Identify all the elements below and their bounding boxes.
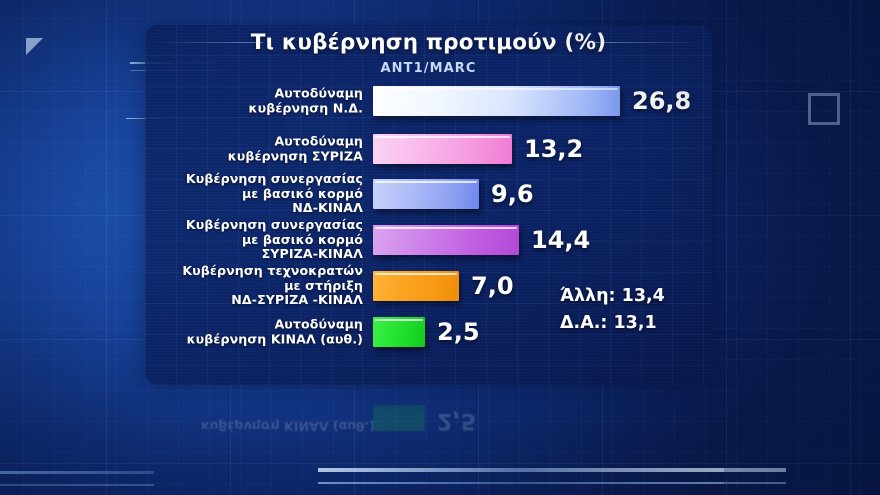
bar-label-line3: ΝΔ-ΚΙΝΑΛ [145,201,363,216]
note-other: Άλλη: 13,4 [560,283,665,310]
bar-syriza-kinal-coalition [373,225,519,255]
deco-line-br-1 [318,468,724,472]
broadcast-graphic: κυβέρνηση ΚΙΝΑΛ (αυθ.) 2,5 Τι κυβέρνηση … [0,0,880,495]
deco-line-br-4 [724,482,786,484]
bar-value: 9,6 [491,180,534,208]
bar-container: 9,6 [373,179,479,209]
bar-container: 7,0 [373,271,459,301]
reflection-bar [373,405,425,431]
bar-syriza-majority [373,134,512,164]
bar-value: 14,4 [531,226,590,254]
table-row: Αυτοδύναμη κυβέρνηση ΣΥΡΙΖΑ 13,2 [145,127,712,171]
bar-container: 14,4 [373,225,519,255]
deco-line-bl-1 [0,471,154,474]
bar-label: Κυβέρνηση τεχνοκρατών με στήριξη ΝΔ-ΣΥΡΙ… [145,264,363,308]
bar-label: Αυτοδύναμη κυβέρνηση ΣΥΡΙΖΑ [145,134,363,163]
bar-nd-kinal-coalition [373,179,479,209]
deco-line-bl-2 [0,484,154,486]
bar-nd-majority [373,86,620,116]
square-outline-icon [808,93,840,125]
bar-label-line2: κυβέρνηση ΣΥΡΙΖΑ [145,149,363,164]
reflection-label: κυβέρνηση ΚΙΝΑΛ (αυθ.) [145,418,375,433]
bar-label-line2: με βασικό κορμό [145,233,363,248]
chart-panel: Τι κυβέρνηση προτιμούν (%) ΑΝΤ1/MARC Αυτ… [145,25,712,385]
bar-label-line1: Κυβέρνηση συνεργασίας [145,172,363,187]
pollster-subtitle: ΑΝΤ1/MARC [145,61,712,76]
bar-value: 2,5 [437,318,480,346]
deco-line-br-2 [318,482,724,484]
bar-value: 13,2 [524,135,583,163]
bar-label-line1: Κυβέρνηση τεχνοκρατών [145,264,363,279]
bar-container: 26,8 [373,86,620,116]
note-dont-know: Δ.Α.: 13,1 [560,310,665,337]
bar-container: 2,5 [373,317,425,347]
bar-label: Αυτοδύναμη κυβέρνηση ΚΙΝΑΛ (αυθ.) [145,317,363,346]
bar-label-line1: Αυτοδύναμη [145,317,363,332]
bar-label-line2: κυβέρνηση Ν.Δ. [145,101,363,116]
bar-label-line1: Κυβέρνηση συνεργασίας [145,218,363,233]
side-notes: Άλλη: 13,4 Δ.Α.: 13,1 [560,283,665,337]
bar-value: 26,8 [632,87,691,115]
table-row: Αυτοδύναμη κυβέρνηση Ν.Δ. 26,8 [145,79,712,123]
bar-label-line2: κυβέρνηση ΚΙΝΑΛ (αυθ.) [145,332,363,347]
panel-reflection: κυβέρνηση ΚΙΝΑΛ (αυθ.) 2,5 [145,389,712,433]
bar-label: Κυβέρνηση συνεργασίας με βασικό κορμό ΣΥ… [145,218,363,262]
deco-line-br-3 [724,468,786,472]
table-row: Κυβέρνηση συνεργασίας με βασικό κορμό ΣΥ… [145,218,712,262]
bar-label-line1: Αυτοδύναμη [145,134,363,149]
table-row: Κυβέρνηση συνεργασίας με βασικό κορμό ΝΔ… [145,172,712,216]
page-title: Τι κυβέρνηση προτιμούν (%) [145,30,712,55]
bar-label-line2: με στήριξη [145,279,363,294]
bar-label-line3: ΝΔ-ΣΥΡΙΖΑ -ΚΙΝΑΛ [145,293,363,308]
reflection-value: 2,5 [437,408,476,433]
bar-label: Κυβέρνηση συνεργασίας με βασικό κορμό ΝΔ… [145,172,363,216]
bar-container: 13,2 [373,134,512,164]
bar-technocrat-government [373,271,459,301]
bar-label-line1: Αυτοδύναμη [145,86,363,101]
triangle-icon [26,38,43,55]
bar-label-line2: με βασικό κορμό [145,187,363,202]
bar-kinal-majority [373,317,425,347]
bar-label: Αυτοδύναμη κυβέρνηση Ν.Δ. [145,86,363,115]
bar-value: 7,0 [471,272,514,300]
bar-label-line3: ΣΥΡΙΖΑ-ΚΙΝΑΛ [145,247,363,262]
